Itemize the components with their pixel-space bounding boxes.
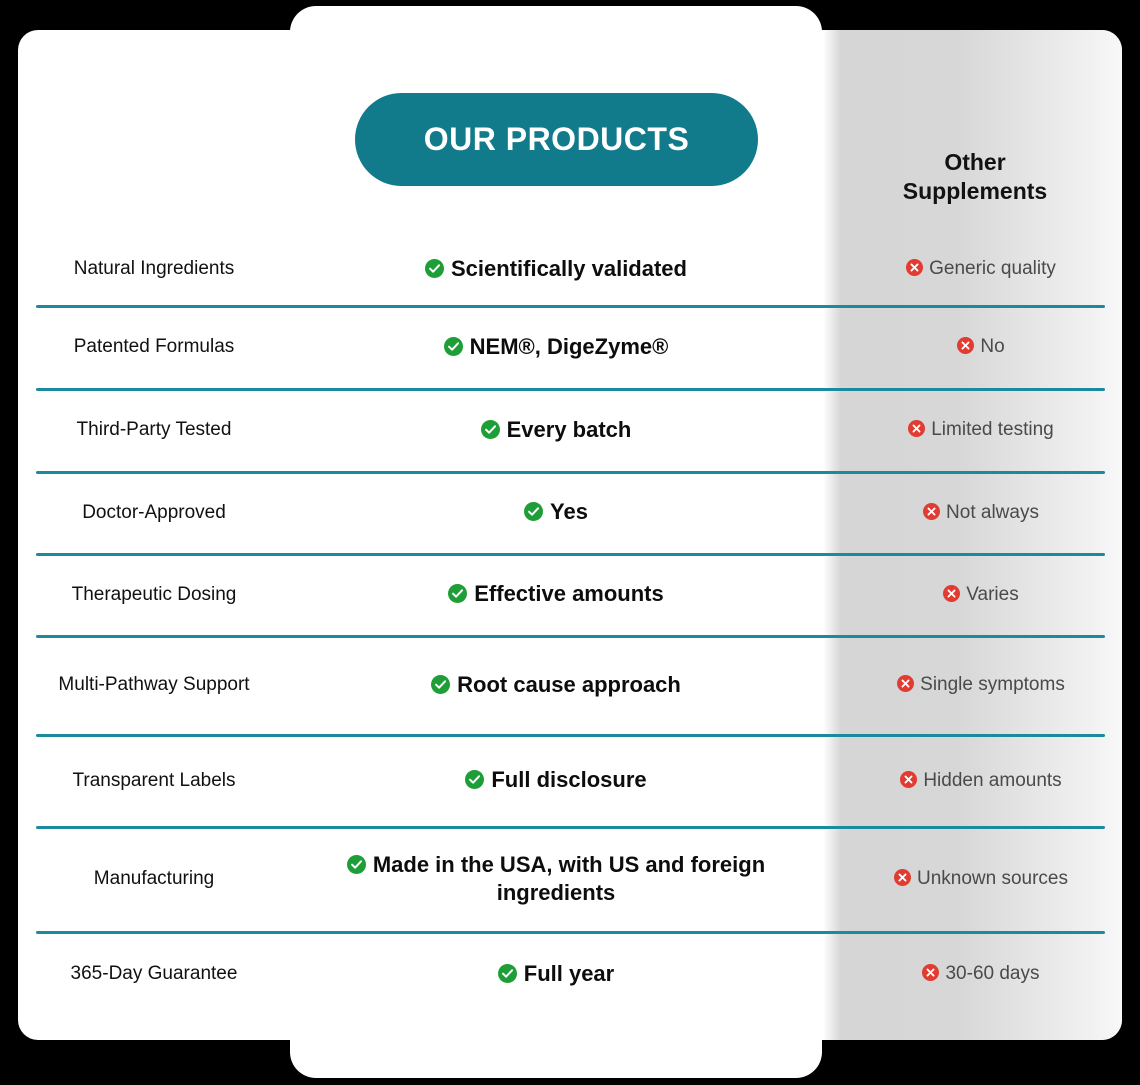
our-products-value-text: Full year xyxy=(524,961,614,986)
x-circle-icon xyxy=(908,420,925,437)
feature-label: Patented Formulas xyxy=(0,334,290,359)
check-circle-icon xyxy=(524,502,543,521)
feature-label: Transparent Labels xyxy=(0,768,290,793)
other-supplements-value: Not always xyxy=(822,500,1140,525)
feature-label: Doctor-Approved xyxy=(0,500,290,525)
other-supplements-value: 30-60 days xyxy=(822,961,1140,986)
our-products-value-text: Root cause approach xyxy=(457,672,681,697)
x-circle-icon xyxy=(894,869,911,886)
other-supplements-value-text: No xyxy=(980,336,1004,357)
check-circle-icon xyxy=(347,855,366,874)
our-products-value: Root cause approach xyxy=(290,671,822,699)
feature-label: Multi-Pathway Support xyxy=(0,672,290,697)
feature-label: Therapeutic Dosing xyxy=(0,582,290,607)
row-divider xyxy=(36,388,1105,391)
x-circle-icon xyxy=(900,771,917,788)
row-divider xyxy=(36,553,1105,556)
other-supplements-value: Generic quality xyxy=(822,256,1140,281)
table-row: Therapeutic DosingEffective amountsVarie… xyxy=(0,553,1140,635)
our-products-value: Every batch xyxy=(290,416,822,444)
check-circle-icon xyxy=(448,584,467,603)
other-supplements-heading-line1: Other xyxy=(855,148,1095,177)
other-supplements-value-text: Hidden amounts xyxy=(923,770,1061,791)
other-supplements-value-text: Not always xyxy=(946,502,1039,523)
row-divider xyxy=(36,826,1105,829)
our-products-value-text: Full disclosure xyxy=(491,767,646,792)
table-row: 365-Day GuaranteeFull year30-60 days xyxy=(0,931,1140,1016)
other-supplements-value: Varies xyxy=(822,582,1140,607)
other-supplements-value-text: Unknown sources xyxy=(917,868,1068,889)
check-circle-icon xyxy=(425,259,444,278)
our-products-badge: OUR PRODUCTS xyxy=(355,93,758,186)
feature-label: Manufacturing xyxy=(0,866,290,891)
other-supplements-heading: Other Supplements xyxy=(855,148,1095,206)
table-row: Transparent LabelsFull disclosureHidden … xyxy=(0,734,1140,826)
other-supplements-value: Unknown sources xyxy=(822,866,1140,891)
our-products-value-text: NEM®, DigeZyme® xyxy=(470,334,669,359)
row-divider xyxy=(36,471,1105,474)
our-products-value-text: Made in the USA, with US and foreign ing… xyxy=(373,852,765,905)
feature-label: Third-Party Tested xyxy=(0,417,290,442)
table-row: ManufacturingMade in the USA, with US an… xyxy=(0,826,1140,931)
our-products-value-text: Yes xyxy=(550,499,588,524)
comparison-rows: Natural IngredientsScientifically valida… xyxy=(0,232,1140,1016)
comparison-table-stage: OUR PRODUCTS Other Supplements Natural I… xyxy=(0,0,1140,1085)
x-circle-icon xyxy=(897,675,914,692)
our-products-value-text: Every batch xyxy=(507,417,632,442)
row-divider xyxy=(36,305,1105,308)
our-products-value: Scientifically validated xyxy=(290,255,822,283)
our-products-value-text: Scientifically validated xyxy=(451,256,687,281)
our-products-value: Made in the USA, with US and foreign ing… xyxy=(290,851,822,907)
other-supplements-value-text: Limited testing xyxy=(931,419,1054,440)
our-products-value: Effective amounts xyxy=(290,580,822,608)
row-divider xyxy=(36,931,1105,934)
our-products-value: Full disclosure xyxy=(290,766,822,794)
table-header: OUR PRODUCTS Other Supplements xyxy=(0,0,1140,232)
other-supplements-value-text: Single symptoms xyxy=(920,674,1065,695)
other-supplements-value: Limited testing xyxy=(822,417,1140,442)
other-supplements-value-text: Varies xyxy=(966,584,1018,605)
check-circle-icon xyxy=(431,675,450,694)
table-row: Multi-Pathway SupportRoot cause approach… xyxy=(0,635,1140,734)
our-products-value-text: Effective amounts xyxy=(474,581,664,606)
x-circle-icon xyxy=(922,964,939,981)
other-supplements-value-text: 30-60 days xyxy=(945,963,1039,984)
table-row: Natural IngredientsScientifically valida… xyxy=(0,232,1140,305)
table-row: Doctor-ApprovedYesNot always xyxy=(0,471,1140,553)
other-supplements-heading-line2: Supplements xyxy=(855,177,1095,206)
check-circle-icon xyxy=(465,770,484,789)
x-circle-icon xyxy=(943,585,960,602)
comparison-content: OUR PRODUCTS Other Supplements Natural I… xyxy=(0,0,1140,1085)
row-divider xyxy=(36,734,1105,737)
other-supplements-value: Hidden amounts xyxy=(822,768,1140,793)
other-supplements-value: No xyxy=(822,334,1140,359)
table-row: Third-Party TestedEvery batchLimited tes… xyxy=(0,388,1140,471)
table-row: Patented FormulasNEM®, DigeZyme®No xyxy=(0,305,1140,388)
x-circle-icon xyxy=(957,337,974,354)
feature-label: Natural Ingredients xyxy=(0,256,290,281)
feature-label: 365-Day Guarantee xyxy=(0,961,290,986)
check-circle-icon xyxy=(498,964,517,983)
other-supplements-value: Single symptoms xyxy=(822,672,1140,697)
x-circle-icon xyxy=(923,503,940,520)
our-products-value: Yes xyxy=(290,498,822,526)
our-products-value: NEM®, DigeZyme® xyxy=(290,333,822,361)
check-circle-icon xyxy=(444,337,463,356)
check-circle-icon xyxy=(481,420,500,439)
x-circle-icon xyxy=(906,259,923,276)
our-products-value: Full year xyxy=(290,960,822,988)
other-supplements-value-text: Generic quality xyxy=(929,258,1056,279)
row-divider xyxy=(36,635,1105,638)
